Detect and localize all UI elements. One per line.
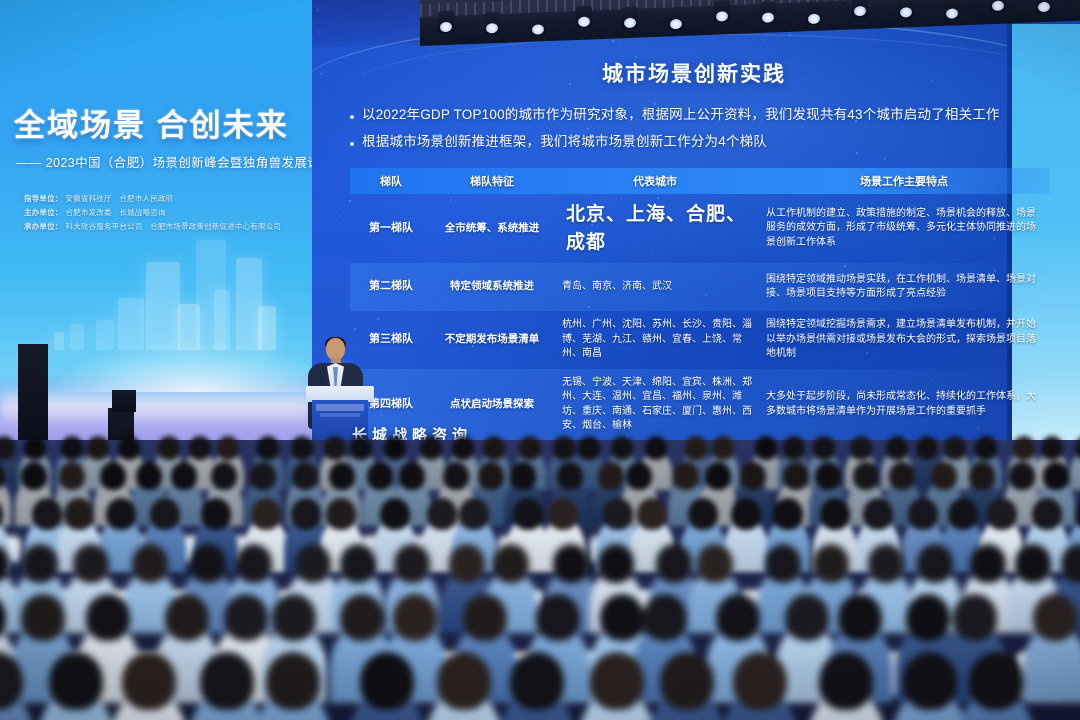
cell-description: 大多处于起步阶段，尚未形成常态化、持续化的工作体系，大多数城市将场景清单作为开展… xyxy=(758,369,1050,441)
presentation-slide: 城市场景创新实践 以2022年GDP TOP100的城市作为研究对象，根据网上公… xyxy=(336,18,1052,458)
audience-head xyxy=(590,652,644,710)
stage-light xyxy=(668,8,684,31)
lectern-brand-subline xyxy=(320,413,360,417)
cell-cities: 北京、上海、合肥、成都 xyxy=(552,194,758,263)
table-body: 第一梯队全市统筹、系统推进北京、上海、合肥、成都从工作机制的建立、政策措施的制定… xyxy=(350,194,1050,441)
audience-head xyxy=(917,544,953,583)
audience-head xyxy=(360,652,414,710)
audience-head xyxy=(813,544,849,583)
audience-head xyxy=(86,594,130,641)
cell-description: 围绕特定领域挖掘场景需求，建立场景清单发布机制，并开始以举办场景供需对接或场景发… xyxy=(758,311,1050,369)
table-header-row: 梯队 梯队特征 代表城市 场景工作主要特点 xyxy=(350,168,1050,194)
subtitle-dash-left: —— xyxy=(16,156,42,170)
audience-head xyxy=(394,544,430,583)
speaker-head xyxy=(326,338,345,360)
audience-head xyxy=(510,652,564,710)
audience-head xyxy=(190,544,226,583)
cell-cities: 青岛、南京、济南、武汉 xyxy=(552,263,758,311)
conference-photo: 全域场景 合创未来 —— 2023中国（合肥）场景创新峰会暨独角兽发展论坛 ——… xyxy=(0,0,1080,720)
audience-head xyxy=(1015,544,1051,583)
audience-head xyxy=(1033,594,1077,641)
cell-description: 围绕特定领域推动场景实践，在工作机制、场景清单、场景对接、场景项目支持等方面形成… xyxy=(758,263,1050,311)
audience-head xyxy=(656,544,692,583)
organizer-value: 合肥市发改委 长城战略咨询 xyxy=(66,208,166,217)
table-row: 第三梯队不定期发布场景清单杭州、广州、沈阳、苏州、长沙、贵阳、淄博、芜湖、九江、… xyxy=(350,311,1050,369)
stage-light xyxy=(852,0,868,17)
audience-head xyxy=(165,594,209,641)
cell-tier: 第二梯队 xyxy=(350,263,432,311)
organizer-line-3: 承办单位：科大硅谷服务平台公司 合肥市场景政策创新促进中心有限公司 xyxy=(24,220,294,234)
audience-head xyxy=(785,594,829,641)
audience-head xyxy=(21,594,65,641)
audience-head xyxy=(236,544,272,583)
stage-light xyxy=(576,5,592,28)
cell-description: 从工作机制的建立、政策措施的制定、场景机会的释放、场景服务的成效方面，形成了市级… xyxy=(758,194,1050,263)
audience-head xyxy=(449,544,485,583)
audience-head xyxy=(73,544,109,583)
cell-feature: 不定期发布场景清单 xyxy=(432,311,552,369)
slide-bullet-list: 以2022年GDP TOP100的城市作为研究对象，根据网上公开资料，我们发现共… xyxy=(350,106,1050,160)
stage-light xyxy=(714,0,730,23)
wall-speck xyxy=(320,73,322,75)
audience-head xyxy=(600,594,644,641)
audience-head xyxy=(463,594,507,641)
audience-head xyxy=(716,594,760,641)
stage-light xyxy=(1036,0,1052,13)
audience-head xyxy=(643,594,687,641)
audience-head xyxy=(553,544,589,583)
cell-feature: 全市统筹、系统推进 xyxy=(432,194,552,263)
slide-bullet-1: 以2022年GDP TOP100的城市作为研究对象，根据网上公开资料，我们发现共… xyxy=(350,106,1050,124)
organizer-line-1: 指导单位：安徽省科技厅 合肥市人民政府 xyxy=(24,192,294,206)
audience-head xyxy=(295,544,331,583)
wall-speck xyxy=(321,95,323,97)
event-main-title: 全域场景 合创未来 xyxy=(14,108,304,144)
table-header-cities: 代表城市 xyxy=(552,173,758,189)
audience-head xyxy=(903,652,957,710)
audience-head xyxy=(733,652,787,710)
audience-head xyxy=(765,544,801,583)
bullet-text: 根据城市场景创新推进框架，我们将城市场景创新工作分为4个梯队 xyxy=(362,133,767,151)
audience-head xyxy=(970,544,1006,583)
organizer-value: 安徽省科技厅 合肥市人民政府 xyxy=(66,194,174,203)
audience-head xyxy=(340,544,376,583)
audience-head xyxy=(493,544,529,583)
table-header-desc: 场景工作主要特点 xyxy=(758,173,1050,189)
audience-area xyxy=(0,440,1080,720)
truss-lattice xyxy=(420,0,1080,17)
loudspeaker-monitor-left-top xyxy=(112,390,136,412)
wall-speck xyxy=(318,31,320,33)
audience-head xyxy=(906,594,950,641)
table-row: 第二梯队特定领域系统推进青岛、南京、济南、武汉围绕特定领域推动场景实践，在工作机… xyxy=(350,263,1050,311)
stage-light xyxy=(530,13,546,36)
organizer-line-2: 主办单位：合肥市发改委 长城战略咨询 xyxy=(24,206,294,220)
audience-head xyxy=(224,594,268,641)
event-subtitle: —— 2023中国（合肥）场景创新峰会暨独角兽发展论坛 —— xyxy=(16,152,302,171)
audience-head xyxy=(819,652,873,710)
event-organizer-list: 指导单位：安徽省科技厅 合肥市人民政府主办单位：合肥市发改委 长城战略咨询承办单… xyxy=(24,192,294,234)
stage-light xyxy=(622,7,638,30)
audience-head xyxy=(122,652,176,710)
cell-cities: 杭州、广州、沈阳、苏州、长沙、贵阳、淄博、芜湖、九江、赣州、宜春、上饶、常州、南… xyxy=(552,311,758,369)
audience-head xyxy=(393,594,437,641)
organizer-value: 科大硅谷服务平台公司 合肥市场景政策创新促进中心有限公司 xyxy=(66,222,282,231)
table-row: 第一梯队全市统筹、系统推进北京、上海、合肥、成都从工作机制的建立、政策措施的制定… xyxy=(350,194,1050,263)
table-header-feature: 梯队特征 xyxy=(432,173,552,189)
organizer-label: 承办单位： xyxy=(24,222,63,231)
audience-head xyxy=(838,594,882,641)
stage-light xyxy=(806,3,822,26)
audience-head xyxy=(132,544,168,583)
wall-speck xyxy=(317,9,319,11)
audience-head xyxy=(953,594,997,641)
audience-head xyxy=(437,652,491,710)
audience-near-rows xyxy=(0,440,1080,720)
bullet-text: 以2022年GDP TOP100的城市作为研究对象，根据网上公开资料，我们发现共… xyxy=(362,106,1000,124)
audience-head xyxy=(49,652,103,710)
stage-light xyxy=(438,11,454,34)
subtitle-text: 2023中国（合肥）场景创新峰会暨独角兽发展论坛 xyxy=(46,156,312,170)
stage-light xyxy=(898,0,914,19)
audience-head xyxy=(200,652,254,710)
audience-head xyxy=(272,594,316,641)
bullet-dot-icon xyxy=(350,115,354,119)
stage-light xyxy=(990,0,1006,12)
bullet-dot-icon xyxy=(350,142,354,146)
audience-head xyxy=(536,594,580,641)
audience-head xyxy=(660,652,714,710)
stage-light xyxy=(484,12,500,35)
lectern-brand-mark xyxy=(316,404,364,411)
table-header-tier: 梯队 xyxy=(350,173,432,189)
cell-feature: 特定领域系统推进 xyxy=(432,263,552,311)
slide-title: 城市场景创新实践 xyxy=(336,58,1052,88)
audience-head xyxy=(969,652,1023,710)
audience-head xyxy=(22,544,58,583)
cell-cities: 无锡、宁波、天津、绵阳、宜宾、株洲、郑州、大连、温州、宜昌、福州、泉州、潍坊、重… xyxy=(552,369,758,441)
slide-bullet-2: 根据城市场景创新推进框架，我们将城市场景创新工作分为4个梯队 xyxy=(350,133,1050,151)
loudspeaker-stack-left xyxy=(18,344,48,450)
organizer-label: 主办单位： xyxy=(24,208,63,217)
organizer-label: 指导单位： xyxy=(24,194,63,203)
stage-light xyxy=(760,1,776,24)
audience-head xyxy=(868,544,904,583)
audience-head xyxy=(598,544,634,583)
tier-table: 梯队 梯队特征 代表城市 场景工作主要特点 第一梯队全市统筹、系统推进北京、上海… xyxy=(350,168,1050,441)
audience-head xyxy=(697,544,733,583)
audience-head xyxy=(340,594,384,641)
audience-head xyxy=(266,652,320,710)
cell-tier: 第一梯队 xyxy=(350,194,432,263)
stage-light xyxy=(944,0,960,20)
